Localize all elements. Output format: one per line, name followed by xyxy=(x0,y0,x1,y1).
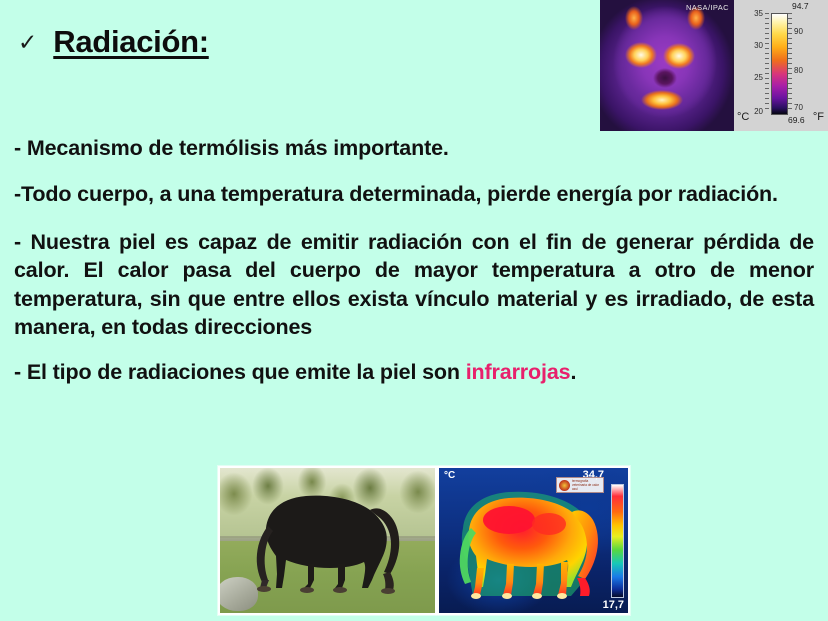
body-text-block: - Mecanismo de termólisis más importante… xyxy=(14,134,814,403)
horse-silhouette-icon xyxy=(252,484,402,602)
thermal-horse-min-label: 17,7 xyxy=(603,599,624,611)
thermal-dog-figure: NASA/IPAC 35 30 25 20 90 80 70 94.7 69.6… xyxy=(600,0,828,131)
page-title: Radiación: xyxy=(53,24,208,60)
fahrenheit-unit-label: °F xyxy=(813,111,824,123)
paragraph-infrarrojas-tail: . xyxy=(570,360,576,384)
fahrenheit-tick-70: 70 xyxy=(794,103,803,112)
horse-image-pair: °C 34,7 17,7 termografía veterinaria de … xyxy=(218,466,630,615)
thermal-dog-colorbar: 35 30 25 20 90 80 70 94.7 69.6 °C °F xyxy=(734,0,828,131)
celsius-tick-35: 35 xyxy=(749,9,763,18)
horse-thermal-silhouette-icon xyxy=(453,484,607,604)
slide-title: ✓ Radiación: xyxy=(18,24,209,60)
celsius-tick-30: 30 xyxy=(749,41,763,50)
colorbar-gradient xyxy=(771,13,788,115)
logo-text: termografía veterinaria de calor azul xyxy=(572,479,601,491)
celsius-tick-20: 20 xyxy=(749,107,763,116)
nasa-ipac-watermark: NASA/IPAC xyxy=(686,3,729,12)
thermal-dog-photo: NASA/IPAC xyxy=(600,0,734,131)
celsius-tick-25: 25 xyxy=(749,73,763,82)
paragraph-nuestra-piel: - Nuestra piel es capaz de emitir radiac… xyxy=(14,228,814,342)
colorbar-ticks-fahrenheit xyxy=(788,13,792,113)
paragraph-mecanismo: - Mecanismo de termólisis más importante… xyxy=(14,134,814,162)
colorbar-ticks-celsius xyxy=(765,13,769,113)
thermal-horse-colorbar xyxy=(611,484,624,598)
fahrenheit-max-label: 94.7 xyxy=(792,1,809,11)
thermal-horse-unit-label: °C xyxy=(444,470,455,481)
paragraph-infrarrojas-lead: - El tipo de radiaciones que emite la pi… xyxy=(14,360,466,384)
paragraph-todo-cuerpo: -Todo cuerpo, a una temperatura determin… xyxy=(14,180,814,208)
horse-thermal-photo: °C 34,7 17,7 termografía veterinaria de … xyxy=(437,466,630,615)
horse-visible-photo xyxy=(218,466,437,615)
fahrenheit-min-label: 69.6 xyxy=(788,115,805,125)
thermography-logo: termografía veterinaria de calor azul xyxy=(556,477,604,493)
checkmark-bullet-icon: ✓ xyxy=(18,31,37,54)
keyword-infrarrojas: infrarrojas xyxy=(466,360,571,384)
logo-seal-icon xyxy=(559,480,570,491)
paragraph-infrarrojas: - El tipo de radiaciones que emite la pi… xyxy=(14,358,814,386)
celsius-unit-label: °C xyxy=(737,111,749,123)
slide-canvas: ✓ Radiación: - Mecanismo de termólisis m… xyxy=(0,0,828,621)
fahrenheit-tick-90: 90 xyxy=(794,27,803,36)
fahrenheit-tick-80: 80 xyxy=(794,66,803,75)
